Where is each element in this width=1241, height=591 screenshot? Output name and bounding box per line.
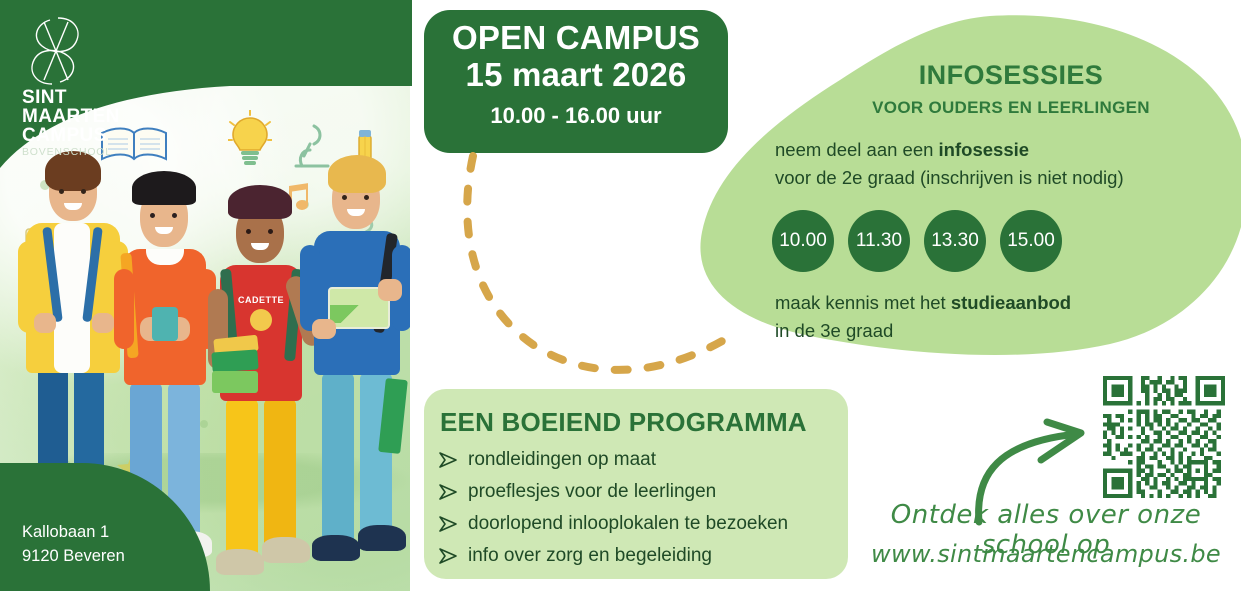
- sint-maarten-campus-logo-icon: [24, 14, 86, 88]
- brand-line-3: CAMPUS: [22, 126, 120, 145]
- infosessie-times: 10.00 11.30 13.30 15.00: [772, 210, 1062, 272]
- infosessies-p1-prefix: neem deel aan een: [775, 139, 939, 160]
- programme-list: rondleidingen op maat proeflesjes voor d…: [438, 444, 848, 572]
- list-item: proeflesjes voor de leerlingen: [438, 476, 848, 508]
- open-campus-card: OPEN CAMPUS 15 maart 2026 10.00 - 16.00 …: [424, 10, 728, 153]
- list-item: doorlopend inlooplokalen te bezoeken: [438, 508, 848, 540]
- infosessies-p1-line2: voor de 2e graad (inschrijven is niet no…: [775, 167, 1124, 188]
- programme-item-label: doorlopend inlooplokalen te bezoeken: [468, 513, 788, 535]
- time-slot-1[interactable]: 10.00: [772, 210, 834, 272]
- infosessies-p2-line2: in de 3e graad: [775, 320, 893, 341]
- chevron-arrow-icon: [438, 483, 458, 501]
- programme-title: EEN BOEIEND PROGRAMMA: [440, 407, 848, 438]
- brand-line-4: BOVENSCHOOL: [22, 147, 120, 158]
- programme-item-label: info over zorg en begeleiding: [468, 545, 712, 567]
- cta-website-url[interactable]: www.sintmaartencampus.be: [866, 540, 1226, 568]
- address-street: Kallobaan 1: [22, 521, 125, 545]
- infosessies-p2-prefix: maak kennis met het: [775, 292, 951, 313]
- brand-wordmark: SINT MAARTEN CAMPUS BOVENSCHOOL: [22, 88, 120, 158]
- open-campus-date: 15 maart 2026: [424, 57, 728, 94]
- infosessies-p1-bold: infosessie: [939, 139, 1030, 160]
- student-figure: [300, 111, 410, 591]
- time-slot-4[interactable]: 15.00: [1000, 210, 1062, 272]
- infosessies-blob: INFOSESSIES VOOR OUDERS EN LEERLINGEN ne…: [690, 14, 1241, 364]
- address-text: Kallobaan 1 9120 Beveren: [22, 521, 125, 569]
- infosessies-paragraph-1: neem deel aan een infosessie voor de 2e …: [775, 136, 1124, 192]
- open-campus-hours: 10.00 - 16.00 uur: [424, 103, 728, 129]
- chevron-arrow-icon: [438, 547, 458, 565]
- chevron-arrow-icon: [438, 515, 458, 533]
- infosessies-subtitle: VOOR OUDERS EN LEERLINGEN: [690, 98, 1241, 118]
- programme-card: EEN BOEIEND PROGRAMMA rondleidingen op m…: [424, 389, 848, 579]
- open-campus-heading: OPEN CAMPUS: [424, 20, 728, 57]
- chevron-arrow-icon: [438, 451, 458, 469]
- time-slot-3[interactable]: 13.30: [924, 210, 986, 272]
- programme-item-label: proeflesjes voor de leerlingen: [468, 481, 716, 503]
- list-item: info over zorg en begeleiding: [438, 540, 848, 572]
- address-city: 9120 Beveren: [22, 545, 125, 569]
- programme-item-label: rondleidingen op maat: [468, 449, 656, 471]
- list-item: rondleidingen op maat: [438, 444, 848, 476]
- qr-code[interactable]: [1103, 376, 1225, 498]
- infosessies-p2-bold: studieaanbod: [951, 292, 1071, 313]
- infosessies-title: INFOSESSIES: [690, 60, 1241, 91]
- poster-root: CADETTE: [0, 0, 1241, 591]
- brand-line-2: MAARTEN: [22, 107, 120, 126]
- brand-line-1: SINT: [22, 88, 120, 107]
- time-slot-2[interactable]: 11.30: [848, 210, 910, 272]
- infosessies-paragraph-2: maak kennis met het studieaanbod in de 3…: [775, 289, 1071, 345]
